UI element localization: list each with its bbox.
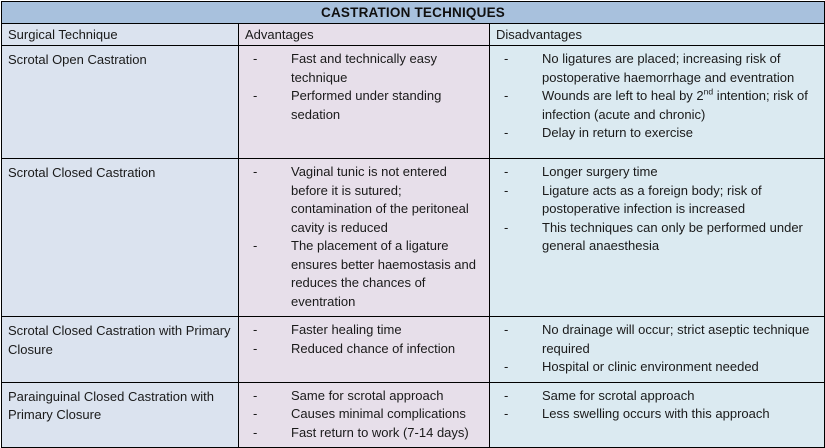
advantages-list: Vaginal tunic is not entered before it i… <box>245 163 483 311</box>
technique-cell: Scrotal Open Castration <box>2 46 239 159</box>
column-header-advantages: Advantages <box>239 24 490 46</box>
list-item: Wounds are left to heal by 2nd intention… <box>496 87 818 124</box>
list-item: Delay in return to exercise <box>496 124 818 143</box>
column-header-surgical-technique: Surgical Technique <box>2 24 239 46</box>
table-row: Scrotal Closed Castration with Primary C… <box>2 317 825 383</box>
list-item: No ligatures are placed; increasing risk… <box>496 50 818 87</box>
technique-cell: Scrotal Closed Castration with Primary C… <box>2 317 239 383</box>
disadvantages-list: No drainage will occur; strict aseptic t… <box>496 321 818 377</box>
disadvantages-list: No ligatures are placed; increasing risk… <box>496 50 818 143</box>
castration-techniques-table-container: CASTRATION TECHNIQUES Surgical Technique… <box>0 0 825 444</box>
technique-label: Parainguinal Closed Castration with Prim… <box>8 387 232 425</box>
list-item: No drainage will occur; strict aseptic t… <box>496 321 818 358</box>
disadvantages-list: Same for scrotal approach Less swelling … <box>496 387 818 424</box>
table-title: CASTRATION TECHNIQUES <box>2 2 825 24</box>
castration-techniques-table: CASTRATION TECHNIQUES Surgical Technique… <box>1 1 825 448</box>
disadvantages-cell: No drainage will occur; strict aseptic t… <box>490 317 825 383</box>
advantages-list: Same for scrotal approach Causes minimal… <box>245 387 483 443</box>
table-row: Scrotal Closed Castration Vaginal tunic … <box>2 159 825 317</box>
list-item: This techniques can only be performed un… <box>496 219 818 256</box>
list-item: Same for scrotal approach <box>245 387 483 406</box>
list-item: Same for scrotal approach <box>496 387 818 406</box>
list-item: Performed under standing sedation <box>245 87 483 124</box>
advantages-cell: Fast and technically easy technique Perf… <box>239 46 490 159</box>
list-item: The placement of a ligature ensures bett… <box>245 237 483 311</box>
disadvantages-cell: Same for scrotal approach Less swelling … <box>490 382 825 448</box>
technique-label: Scrotal Closed Castration <box>8 163 232 183</box>
list-item: Faster healing time <box>245 321 483 340</box>
list-item: Ligature acts as a foreign body; risk of… <box>496 182 818 219</box>
technique-label: Scrotal Open Castration <box>8 50 232 70</box>
list-item: Less swelling occurs with this approach <box>496 405 818 424</box>
technique-label: Scrotal Closed Castration with Primary C… <box>8 321 232 359</box>
table-row: Scrotal Open Castration Fast and technic… <box>2 46 825 159</box>
disadvantages-cell: No ligatures are placed; increasing risk… <box>490 46 825 159</box>
column-header-disadvantages: Disadvantages <box>490 24 825 46</box>
list-item: Fast and technically easy technique <box>245 50 483 87</box>
technique-cell: Scrotal Closed Castration <box>2 159 239 317</box>
list-item: Reduced chance of infection <box>245 340 483 359</box>
list-item: Hospital or clinic environment needed <box>496 358 818 377</box>
table-header-row: Surgical Technique Advantages Disadvanta… <box>2 24 825 46</box>
advantages-list: Faster healing time Reduced chance of in… <box>245 321 483 358</box>
advantages-cell: Vaginal tunic is not entered before it i… <box>239 159 490 317</box>
list-item: Causes minimal complications <box>245 405 483 424</box>
technique-cell: Parainguinal Closed Castration with Prim… <box>2 382 239 448</box>
list-item: Longer surgery time <box>496 163 818 182</box>
list-item: Fast return to work (7-14 days) <box>245 424 483 443</box>
list-item: Vaginal tunic is not entered before it i… <box>245 163 483 237</box>
advantages-cell: Same for scrotal approach Causes minimal… <box>239 382 490 448</box>
disadvantages-cell: Longer surgery time Ligature acts as a f… <box>490 159 825 317</box>
advantages-cell: Faster healing time Reduced chance of in… <box>239 317 490 383</box>
advantages-list: Fast and technically easy technique Perf… <box>245 50 483 124</box>
table-row: Parainguinal Closed Castration with Prim… <box>2 382 825 448</box>
disadvantages-list: Longer surgery time Ligature acts as a f… <box>496 163 818 256</box>
table-title-row: CASTRATION TECHNIQUES <box>2 2 825 24</box>
